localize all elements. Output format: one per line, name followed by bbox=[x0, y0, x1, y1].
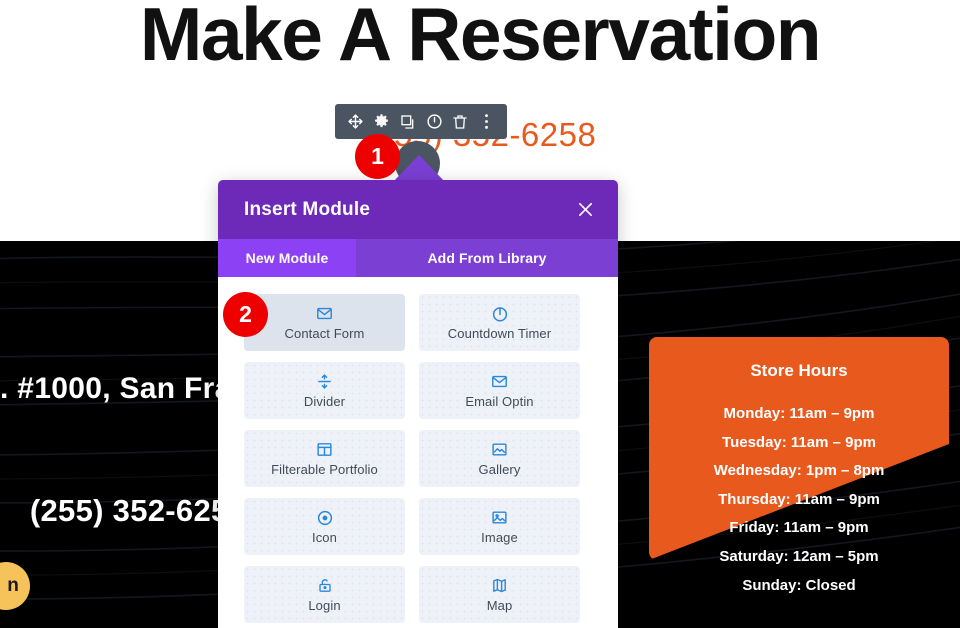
module-element-toolbar[interactable] bbox=[335, 104, 507, 139]
module-tile-map[interactable]: Map bbox=[419, 566, 580, 623]
store-hours-row: Wednesday: 1pm – 8pm bbox=[649, 457, 949, 486]
modal-header: Insert Module bbox=[218, 180, 618, 239]
divider-icon bbox=[316, 372, 333, 391]
module-tile-login[interactable]: Login bbox=[244, 566, 405, 623]
step-badge-2: 2 bbox=[223, 292, 268, 337]
store-hours-row: Thursday: 11am – 9pm bbox=[649, 486, 949, 515]
kebab-menu-icon[interactable] bbox=[477, 112, 496, 131]
store-hours-row: Saturday: 12am – 5pm bbox=[649, 543, 949, 572]
gallery-icon bbox=[491, 440, 508, 459]
module-label: Filterable Portfolio bbox=[271, 462, 378, 477]
module-tile-divider[interactable]: Divider bbox=[244, 362, 405, 419]
step-badge-1: 1 bbox=[355, 134, 400, 179]
close-icon[interactable] bbox=[574, 199, 596, 221]
corner-badge-label: n bbox=[7, 575, 19, 597]
module-tile-image[interactable]: Image bbox=[419, 498, 580, 555]
store-hours-row: Monday: 11am – 9pm bbox=[649, 400, 949, 429]
module-tile-filterable-portfolio[interactable]: Filterable Portfolio bbox=[244, 430, 405, 487]
trash-icon[interactable] bbox=[451, 112, 470, 131]
lock-icon bbox=[317, 576, 333, 595]
module-label: Map bbox=[487, 598, 513, 613]
duplicate-icon[interactable] bbox=[398, 112, 417, 131]
module-label: Divider bbox=[304, 394, 345, 409]
module-label: Image bbox=[481, 530, 518, 545]
store-hours-list: Monday: 11am – 9pm Tuesday: 11am – 9pm W… bbox=[649, 400, 949, 600]
power-icon[interactable] bbox=[425, 112, 444, 131]
grid-icon bbox=[316, 440, 333, 459]
map-icon bbox=[491, 576, 508, 595]
store-hours-row: Friday: 11am – 9pm bbox=[649, 514, 949, 543]
envelope-icon bbox=[316, 304, 333, 323]
image-icon bbox=[491, 508, 508, 527]
clock-icon bbox=[491, 304, 509, 323]
page-title: Make A Reservation bbox=[0, 0, 960, 73]
modal-body: Contact Form Countdown Timer bbox=[218, 277, 618, 628]
module-tile-icon[interactable]: Icon bbox=[244, 498, 405, 555]
modal-title: Insert Module bbox=[244, 199, 574, 221]
insert-module-modal: Insert Module New Module Add From Librar… bbox=[218, 180, 618, 628]
module-tile-gallery[interactable]: Gallery bbox=[419, 430, 580, 487]
module-label: Email Optin bbox=[465, 394, 533, 409]
tab-add-from-library[interactable]: Add From Library bbox=[356, 239, 618, 277]
store-hours-row: Sunday: Closed bbox=[649, 572, 949, 601]
modal-pointer-arrow bbox=[392, 155, 446, 183]
store-hours-title: Store Hours bbox=[649, 361, 949, 381]
module-label: Countdown Timer bbox=[448, 326, 551, 341]
module-label: Gallery bbox=[479, 462, 521, 477]
module-label: Icon bbox=[312, 530, 337, 545]
screenshot-stage: Make A Reservation (255) 352-6258 bbox=[0, 0, 960, 628]
module-tile-email-optin[interactable]: Email Optin bbox=[419, 362, 580, 419]
module-label: Contact Form bbox=[285, 326, 365, 341]
module-tile-contact-form[interactable]: Contact Form bbox=[244, 294, 405, 351]
module-label: Login bbox=[308, 598, 340, 613]
gear-icon[interactable] bbox=[372, 112, 391, 131]
modal-tabs: New Module Add From Library bbox=[218, 239, 618, 277]
module-tile-countdown-timer[interactable]: Countdown Timer bbox=[419, 294, 580, 351]
target-icon bbox=[316, 508, 334, 527]
move-icon[interactable] bbox=[346, 112, 365, 131]
module-grid: Contact Form Countdown Timer bbox=[244, 294, 596, 623]
tab-new-module[interactable]: New Module bbox=[218, 239, 356, 277]
store-hours-row: Tuesday: 11am – 9pm bbox=[649, 429, 949, 458]
envelope-icon bbox=[491, 372, 508, 391]
